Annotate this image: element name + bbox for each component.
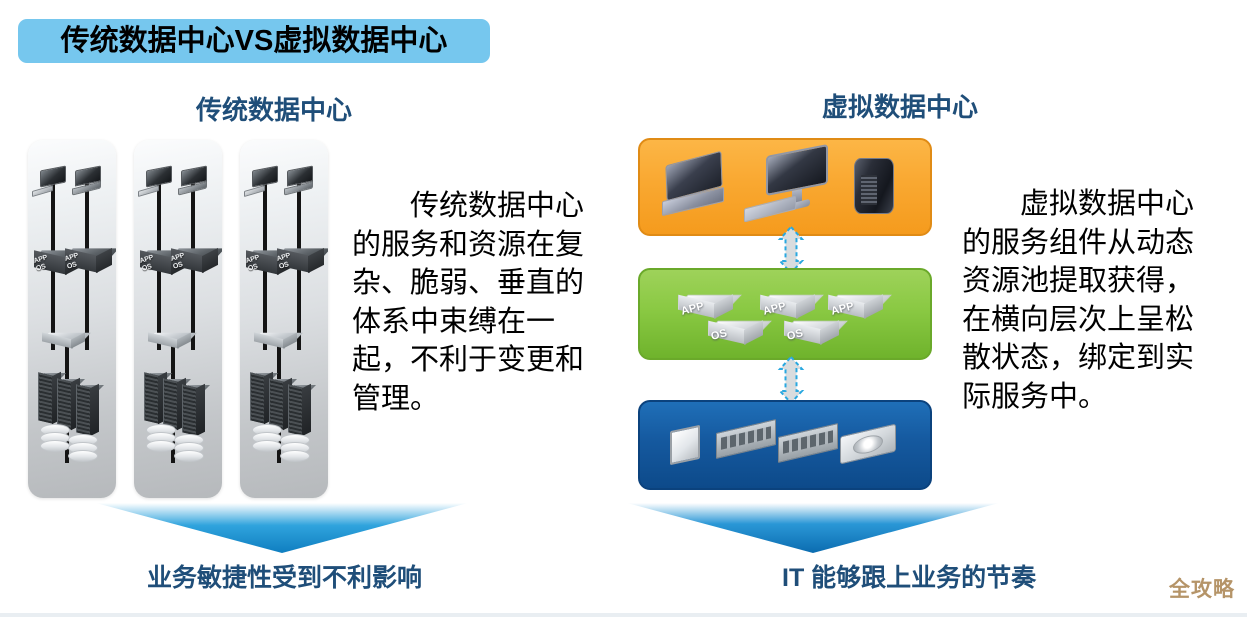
left-chevron-arrow <box>96 503 468 553</box>
page-title: 传统数据中心VS虚拟数据中心 <box>61 27 448 56</box>
double-arrow-connector-1 <box>773 226 809 274</box>
app-os-server-box: APPOS <box>277 243 323 273</box>
left-column-subtitle: 传统数据中心 <box>196 90 352 127</box>
right-description-text: 虚拟数据中心的服务组件从动态资源池提取获得，在横向层次上呈松散状态，绑定到实际服… <box>962 184 1214 415</box>
hdd-icon <box>840 424 896 465</box>
panel-app-os: APP APP APP OS OS <box>638 268 932 360</box>
storage-disk-icon <box>280 434 310 464</box>
storage-disk-icon <box>40 424 70 454</box>
app-os-server-box: APPOS <box>65 243 111 273</box>
keyboard-icon <box>32 185 53 197</box>
left-description-text: 传统数据中心的服务和资源在复杂、脆弱、垂直的体系中束缚在一起，不利于变更和管理。 <box>352 186 598 417</box>
storage-disk-icon <box>252 424 282 454</box>
server-rack-icon <box>288 380 310 436</box>
ram-icon <box>716 419 776 459</box>
os-box-label: OS <box>786 327 805 343</box>
keyboard-icon <box>244 185 265 197</box>
network-switch-icon <box>254 328 302 350</box>
monitor-icon <box>252 165 278 187</box>
right-column-subtitle: 虚拟数据中心 <box>822 87 978 124</box>
right-chevron-arrow <box>627 503 999 553</box>
virtual-datacenter-stack: APP APP APP OS OS <box>638 138 932 500</box>
server-rack-icon <box>76 380 98 436</box>
double-arrow-connector-2 <box>773 356 809 404</box>
slide-root: 传统数据中心VS虚拟数据中心 传统数据中心 虚拟数据中心 APPOS <box>0 0 1247 617</box>
network-switch-icon <box>42 328 90 350</box>
os-box: OS <box>784 314 838 348</box>
tower-icon <box>854 158 894 214</box>
monitor-icon <box>146 165 172 187</box>
silo-column-2: APPOS APPOS <box>134 140 222 498</box>
os-box: OS <box>708 314 762 348</box>
right-bottom-caption: IT 能够跟上业务的节奏 <box>782 558 1036 594</box>
keyboard-icon <box>138 185 159 197</box>
footer-divider <box>0 613 1247 617</box>
os-box-label: OS <box>710 327 729 343</box>
panel-hardware <box>638 400 932 490</box>
left-bottom-caption: 业务敏捷性受到不利影响 <box>147 558 422 594</box>
network-switch-icon <box>148 328 196 350</box>
silo-column-1: APPOS APPOS <box>28 140 116 498</box>
panel-devices <box>638 138 932 236</box>
monitor-icon <box>40 165 66 187</box>
app-os-server-box: APPOS <box>171 243 217 273</box>
silo-column-3: APPOS APPOS <box>240 140 328 498</box>
ram-icon <box>778 423 838 463</box>
cpu-icon <box>670 425 700 465</box>
watermark-label: 全攻略 <box>1169 573 1235 603</box>
slide-title-banner: 传统数据中心VS虚拟数据中心 <box>18 19 490 63</box>
server-rack-icon <box>182 380 204 436</box>
storage-disk-icon <box>146 424 176 454</box>
traditional-datacenter-silos: APPOS APPOS <box>28 140 328 498</box>
storage-disk-icon <box>68 434 98 464</box>
storage-disk-icon <box>174 434 204 464</box>
